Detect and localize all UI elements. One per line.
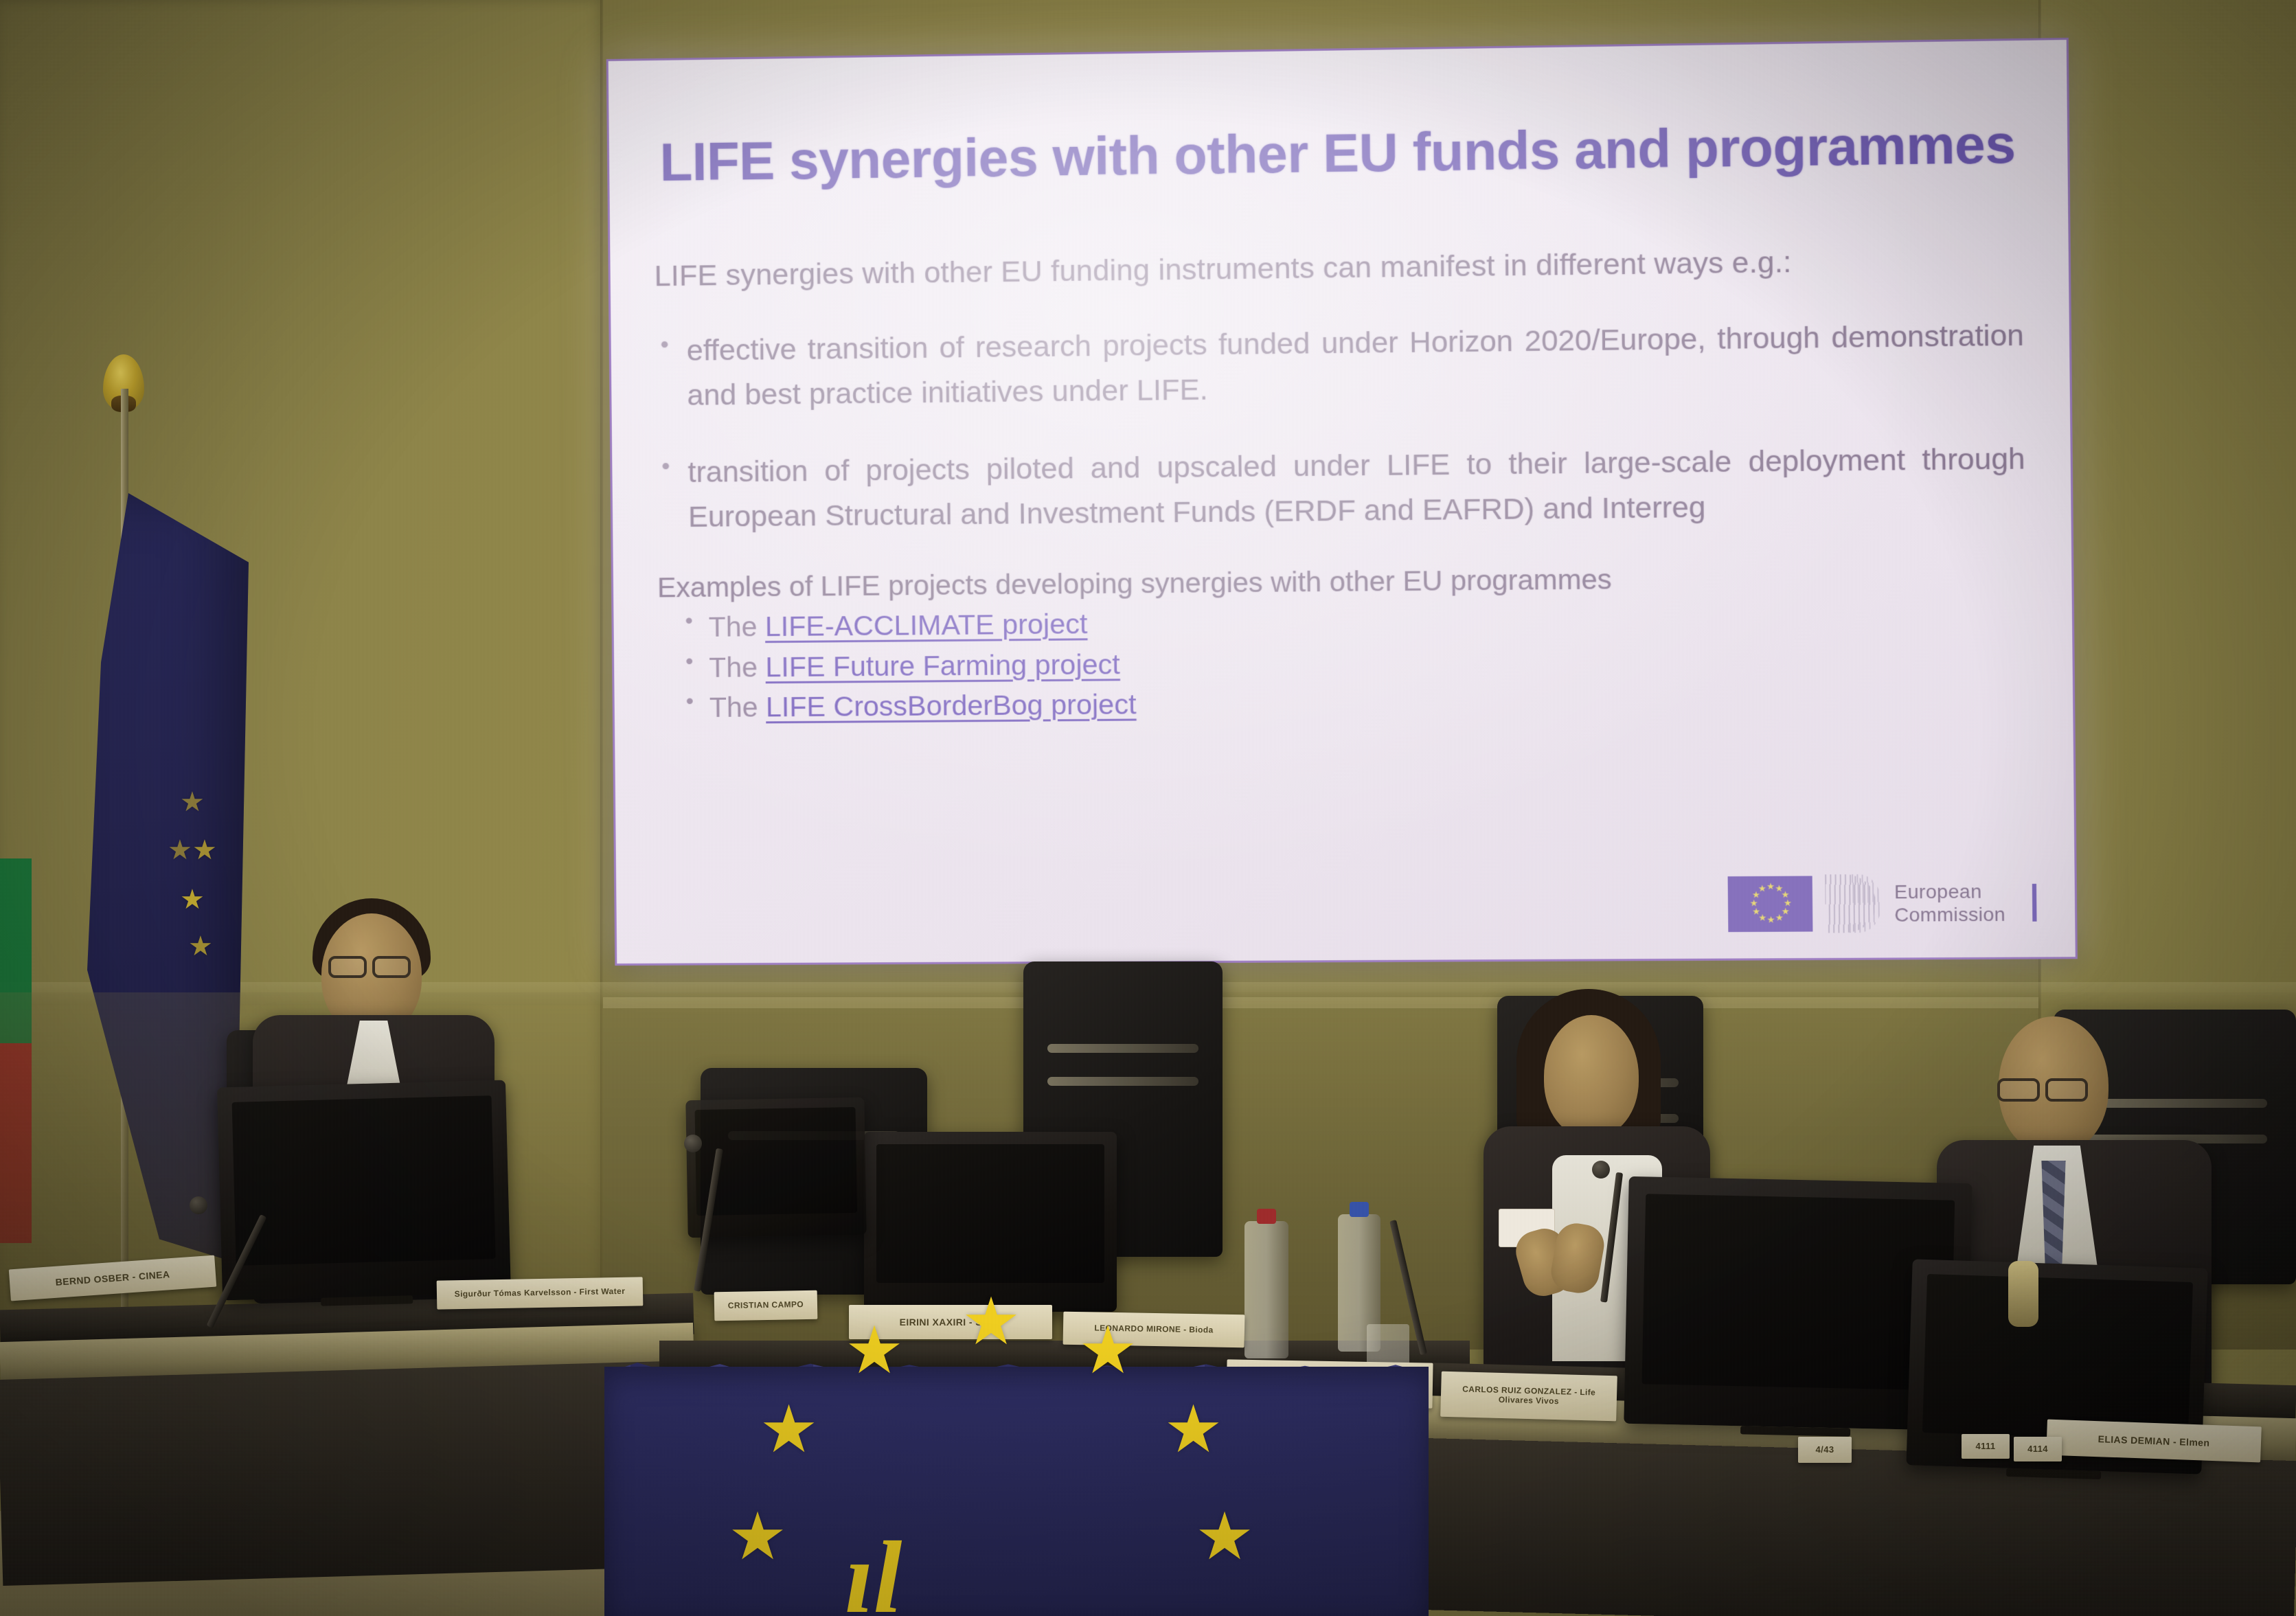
eu-star: ★ [1766, 916, 1773, 922]
panelist-right-glasses-2 [2045, 1078, 2088, 1102]
desk-front-left [0, 1361, 696, 1586]
eu-star-table-flag: ★ [760, 1397, 819, 1463]
eu-star: ★ [1784, 900, 1790, 906]
commission-logo-line2: Commission [1894, 903, 2005, 926]
eu-star-pole-flag: ★ [180, 886, 205, 913]
eu-flag-icon: ★★★★★★★★★★★★ [1728, 876, 1813, 932]
eu-star: ★ [1781, 891, 1787, 898]
equipment-label-3: 4114 [2014, 1437, 2062, 1461]
slide-examples-heading: Examples of LIFE projects developing syn… [657, 560, 2027, 604]
life-future-farming-link[interactable]: LIFE Future Farming project [765, 648, 1120, 683]
panelist-left-glasses [328, 956, 367, 978]
projection-screen: LIFE synergies with other EU funds and p… [606, 38, 2078, 966]
nameplate-cristian-campo: CRISTIAN CAMPO [714, 1290, 818, 1321]
eu-star-pole-flag: ★ [188, 933, 213, 960]
microphone-head-right [2008, 1261, 2038, 1327]
eu-star: ★ [1752, 908, 1758, 914]
eu-star-table-flag: ★ [962, 1289, 1021, 1355]
equipment-label-1: 4/43 [1798, 1437, 1852, 1463]
panelist-left-glasses-2 [372, 956, 411, 978]
microphone-head-center-left [684, 1135, 702, 1152]
slide-bullet-2: transition of projects piloted and upsca… [656, 436, 2025, 540]
example-link-item-2[interactable]: The LIFE Future Farming project [681, 639, 2027, 685]
slide-example-links: The LIFE-ACCLIMATE project The LIFE Futu… [681, 598, 2027, 726]
slide-bullet-1: effective transition of research project… [655, 313, 2024, 419]
monitor-left [217, 1080, 511, 1301]
nameplate-sigurdur: Sigurður Tómas Karvelsson - First Water [437, 1277, 644, 1309]
commission-logo-text: European Commission [1894, 880, 2005, 926]
equipment-label-2: 4111 [1962, 1434, 2010, 1459]
microphone-head-left [190, 1196, 207, 1214]
nameplate-carlos-ruiz: CARLOS RUIZ GONZALEZ - Life Olivares Viv… [1440, 1372, 1617, 1422]
life-logo-on-flag: ıl [845, 1532, 1023, 1616]
example-link-item-3[interactable]: The LIFE CrossBorderBog project [682, 680, 2028, 726]
slide-title: LIFE synergies with other EU funds and p… [653, 116, 2023, 191]
eu-star-table-flag: ★ [1078, 1318, 1137, 1384]
nameplate-elias-demian: ELIAS DEMIAN - Elmen [2046, 1420, 2262, 1463]
eu-star-table-flag: ★ [845, 1318, 904, 1384]
european-commission-logo: ★★★★★★★★★★★★ European Commission [1728, 874, 2037, 934]
microphone-head-woman [1592, 1161, 1610, 1179]
link-prefix-3: The [709, 692, 766, 724]
presentation-slide: LIFE synergies with other EU funds and p… [609, 40, 2076, 964]
slide-intro-text: LIFE synergies with other EU funding ins… [654, 242, 2023, 293]
eu-star: ★ [1758, 885, 1764, 891]
eu-star-pole-flag: ★ [180, 788, 205, 816]
life-crossborderbog-link[interactable]: LIFE CrossBorderBog project [766, 688, 1137, 722]
panelist-right-glasses [1997, 1078, 2040, 1102]
eu-stars-ring: ★★★★★★★★★★★★ [1728, 876, 1813, 932]
eu-star-pole-flag: ★ [192, 837, 217, 864]
commission-logo-bar [2032, 884, 2037, 922]
eu-star-table-flag: ★ [1163, 1611, 1223, 1616]
eu-star-table-flag: ★ [1195, 1504, 1254, 1570]
eu-star-pole-flag: ★ [168, 837, 192, 864]
life-acclimate-link[interactable]: LIFE-ACCLIMATE project [765, 608, 1088, 642]
commission-logo-line1: European [1894, 880, 2005, 903]
eu-star: ★ [1775, 914, 1782, 920]
water-bottle-1 [1244, 1221, 1288, 1358]
example-link-item-1[interactable]: The LIFE-ACCLIMATE project [681, 598, 2027, 646]
eu-star: ★ [1775, 885, 1781, 891]
eu-star: ★ [1750, 900, 1756, 906]
commission-wave-icon-2 [1849, 874, 1882, 933]
panelist-woman-head [1544, 1015, 1639, 1137]
link-prefix-1: The [709, 611, 766, 643]
eu-star-table-flag: ★ [1163, 1397, 1223, 1463]
conference-room-photo: LIFE synergies with other EU funds and p… [0, 0, 2296, 1616]
eu-star-table-flag: ★ [760, 1611, 819, 1616]
eu-star: ★ [1752, 891, 1758, 898]
eu-star: ★ [1766, 883, 1773, 889]
eu-star-table-flag: ★ [728, 1504, 787, 1570]
link-prefix-2: The [709, 651, 766, 683]
slide-bullet-list: effective transition of research project… [655, 313, 2025, 540]
